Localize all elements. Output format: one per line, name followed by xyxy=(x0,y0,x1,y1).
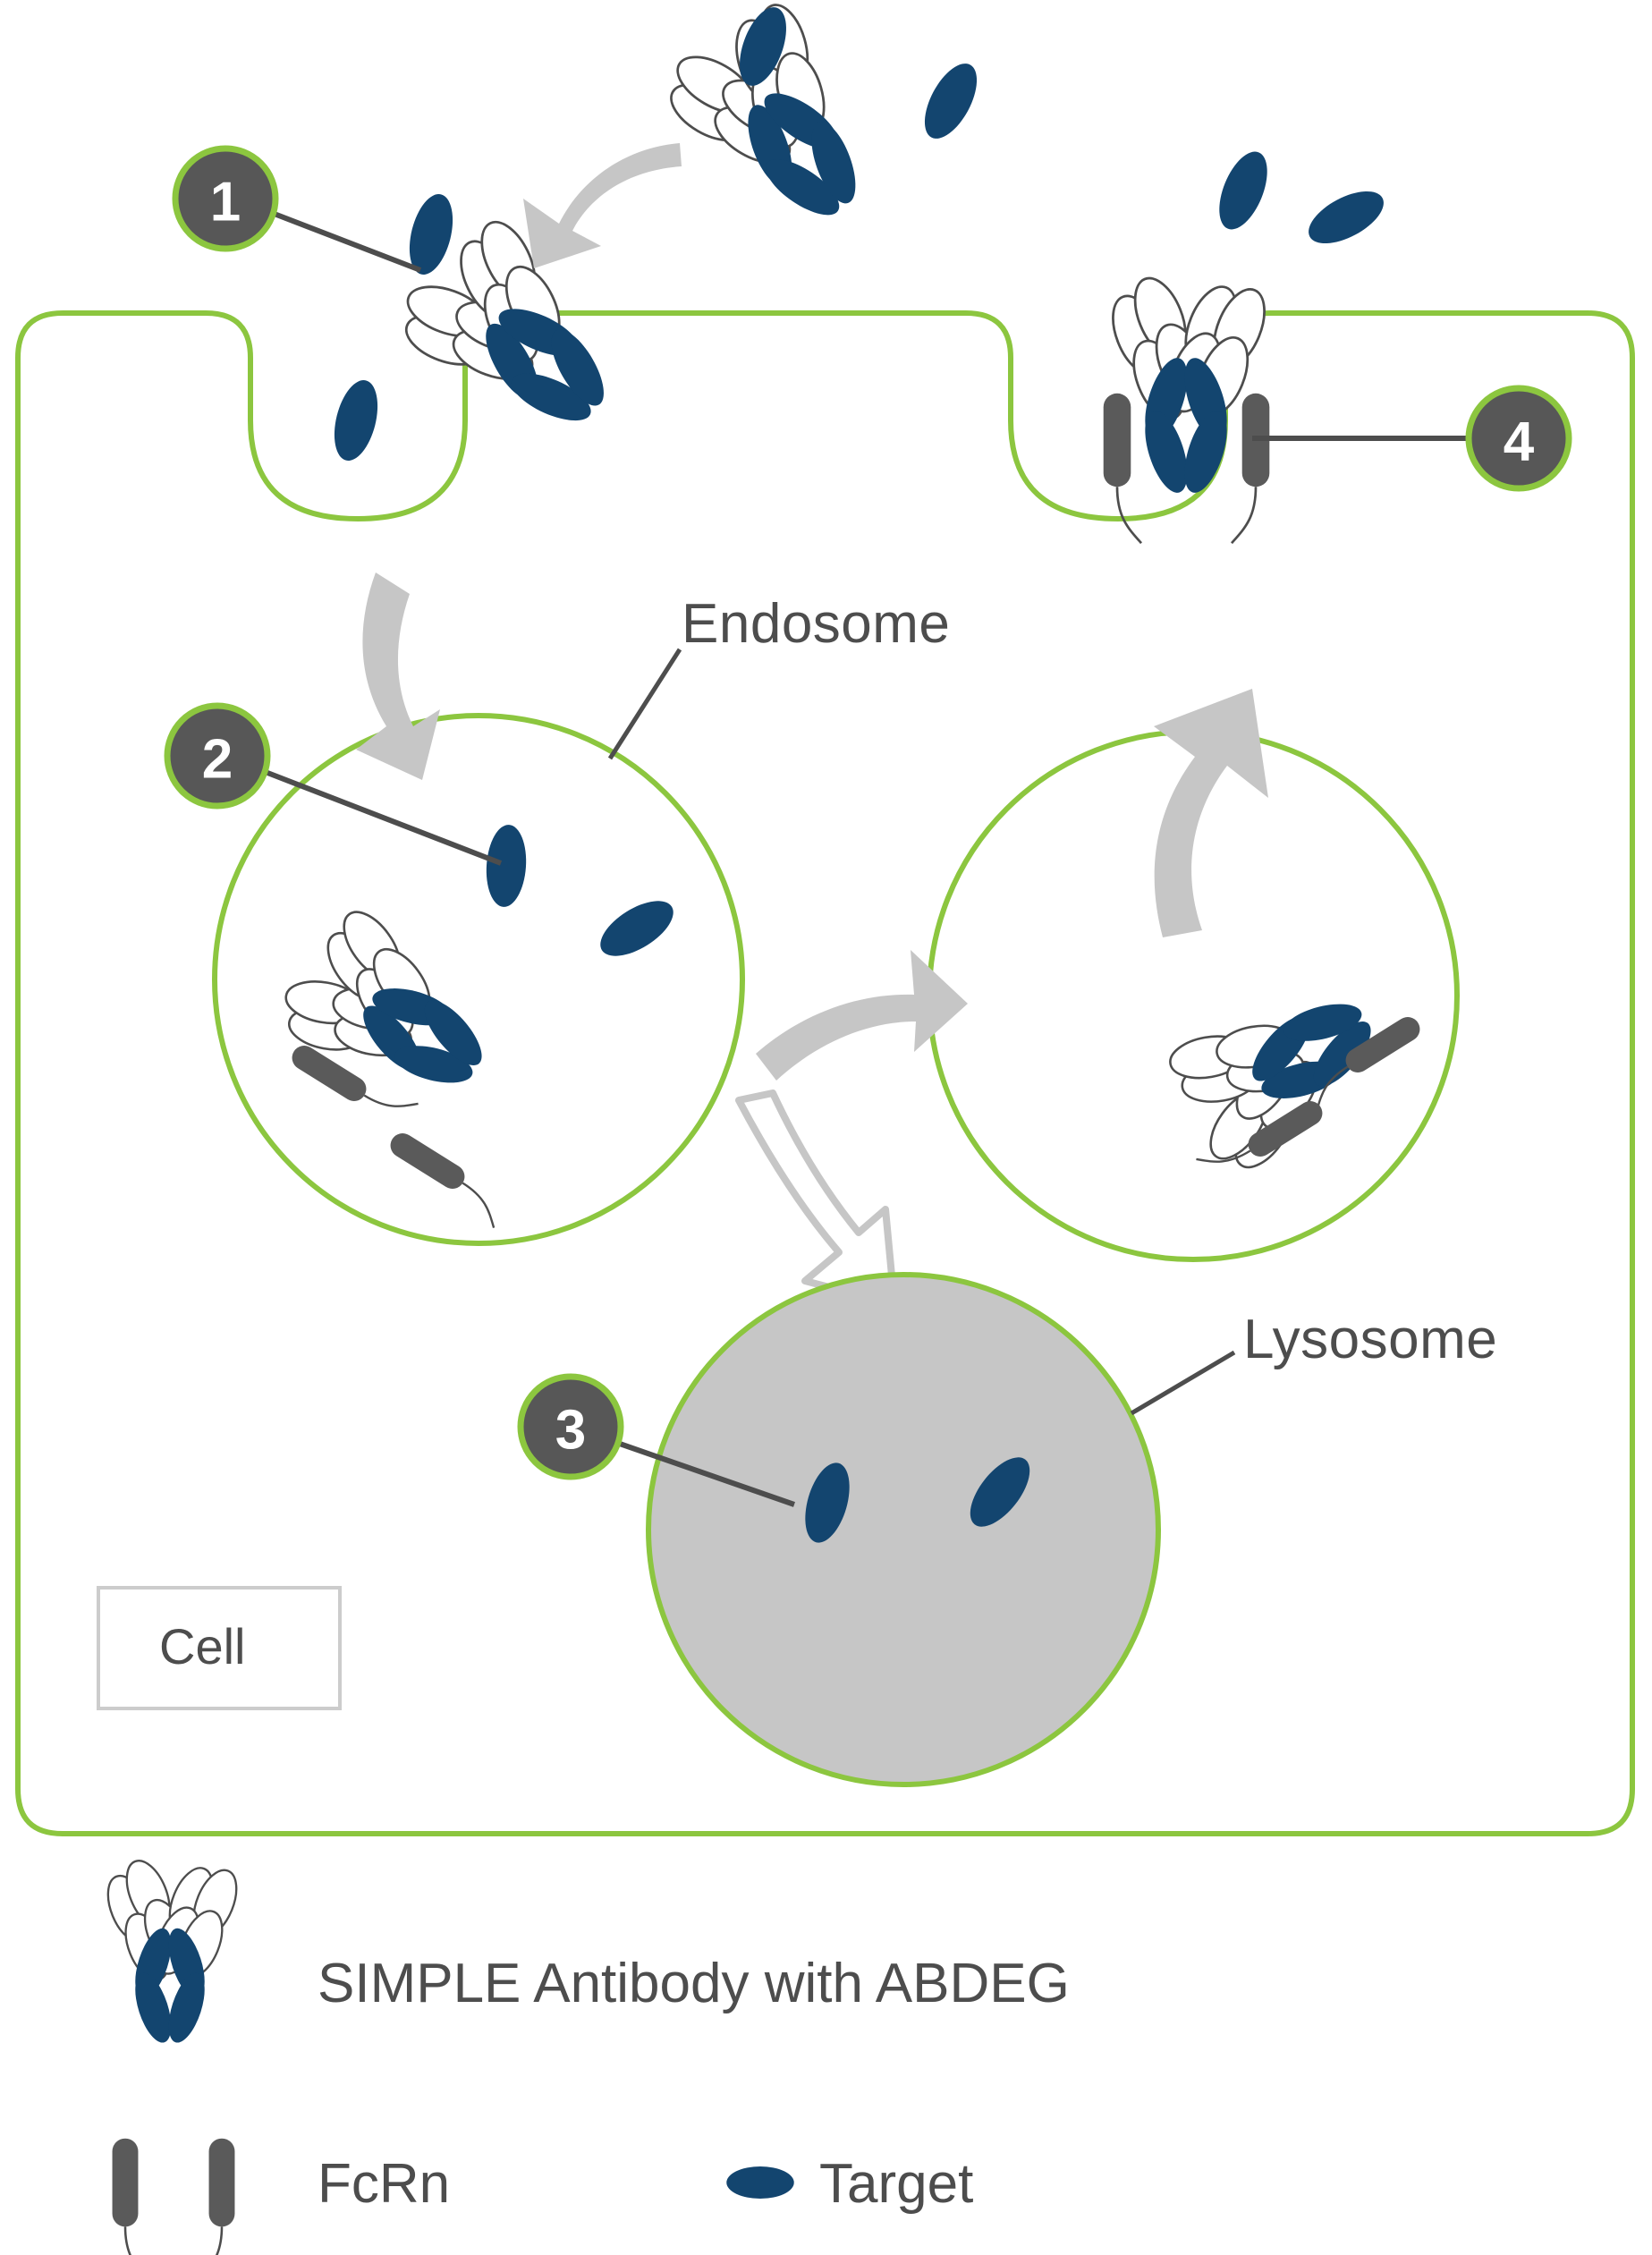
target-released-left xyxy=(1209,145,1276,236)
step-3-number: 3 xyxy=(555,1400,586,1462)
arrow-internalisation xyxy=(356,572,440,780)
endosome-label: Endosome xyxy=(682,593,950,655)
arrow-uptake-to-membrane xyxy=(523,143,682,268)
legend-fcrn-label: FcRn xyxy=(318,2153,450,2215)
lysosome-outline xyxy=(648,1275,1158,1785)
step-badge-1[interactable]: 1 xyxy=(175,148,420,270)
step-badge-4[interactable]: 4 xyxy=(1252,388,1569,488)
legend-target-label: Target xyxy=(819,2153,973,2215)
arrow-to-lysosome xyxy=(739,1093,894,1304)
step-2-number: 2 xyxy=(202,729,233,791)
pathway-diagram: Cell E xyxy=(0,0,1652,2255)
legend-antibody-label: SIMPLE Antibody with ABDEG xyxy=(318,1953,1070,2014)
lysosome-label: Lysosome xyxy=(1243,1309,1497,1370)
target-bound-entering-lower xyxy=(327,376,385,465)
legend-item-fcrn: FcRn xyxy=(113,2139,451,2255)
legend-item-antibody: SIMPLE Antibody with ABDEG xyxy=(97,1854,1070,2047)
endosome-left-outline xyxy=(215,716,742,1243)
fcrn-icon xyxy=(113,2139,235,2255)
target-released-right xyxy=(1300,181,1392,254)
step-1-leader-line xyxy=(272,213,420,270)
endosome-leader-line xyxy=(610,649,680,759)
lysosome-leader-line xyxy=(1131,1352,1234,1413)
target-free-top-right xyxy=(914,55,987,147)
lysosome-callout: Lysosome xyxy=(1131,1309,1497,1413)
step-4-number: 4 xyxy=(1504,411,1535,473)
step-1-number: 1 xyxy=(210,172,241,233)
cell-label-text: Cell xyxy=(159,1618,245,1674)
endosome-callout: Endosome xyxy=(610,593,950,759)
fcrn-right-at-membrane xyxy=(1232,394,1269,543)
figure-root: Cell E xyxy=(0,0,1652,2255)
antibody-icon xyxy=(97,1854,247,2047)
legend-item-target: Target xyxy=(726,2153,973,2215)
cell-label-box: Cell xyxy=(98,1588,340,1708)
endosome-left xyxy=(215,716,742,1243)
target-ellipse-icon xyxy=(726,2166,793,2199)
lysosome xyxy=(648,1275,1158,1785)
